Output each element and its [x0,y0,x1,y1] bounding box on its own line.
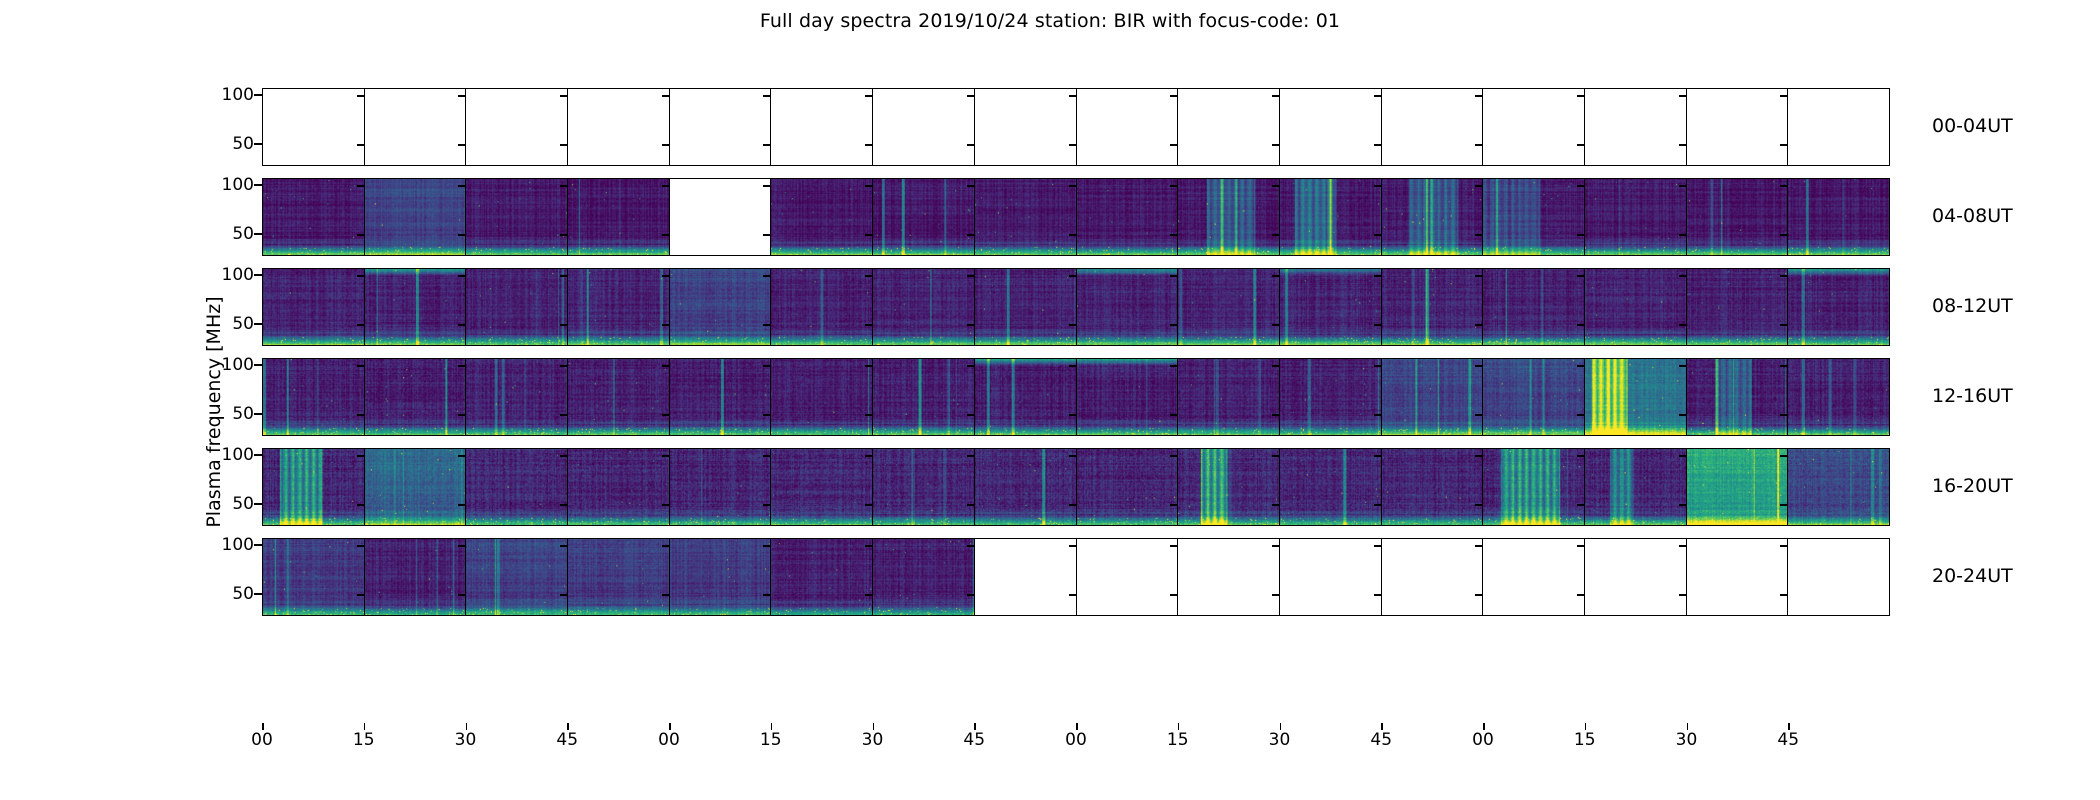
panel-tick-mark [1577,234,1585,236]
spectrogram-image [771,449,872,525]
spectrogram-image [1483,449,1584,525]
spectrogram-panel[interactable] [670,539,772,615]
x-tick-mark [262,723,264,730]
panel-tick-mark [1272,275,1280,277]
spectrogram-panel[interactable] [1178,449,1280,525]
panel-tick-mark [560,414,568,416]
spectrogram-image [670,449,771,525]
spectrogram-panel[interactable] [365,89,467,165]
spectrogram-panel[interactable] [771,539,873,615]
panel-tick-mark [1780,455,1788,457]
x-tick-label: 30 [455,730,477,750]
spectrogram-panel[interactable] [1077,359,1179,435]
panel-tick-mark [1374,504,1382,506]
spectrogram-panel[interactable] [670,179,772,255]
spectrogram-row-16-20ut: 1005016-20UT [262,448,1890,526]
panel-tick-mark [357,594,365,596]
panel-tick-mark [662,594,670,596]
spectrogram-image [1687,359,1788,435]
spectrogram-image [1178,359,1279,435]
spectrogram-panel[interactable] [466,179,568,255]
x-tick-label: 00 [1472,730,1494,750]
spectrogram-panel[interactable] [1788,449,1889,525]
x-tick-label: 15 [1574,730,1596,750]
spectrogram-image [466,359,567,435]
spectrogram-panel[interactable] [771,89,873,165]
spectrogram-image [1382,359,1483,435]
panel-tick-mark [967,185,975,187]
panel-tick-mark [560,275,568,277]
y-tick-label: 50 [184,494,254,514]
panel-tick-mark [1170,324,1178,326]
x-tick: 45 [567,730,669,756]
spectrogram-image [263,269,364,345]
panel-tick-mark [1475,455,1483,457]
spectrogram-image [1585,449,1686,525]
spectrogram-panel[interactable] [873,89,975,165]
spectrogram-image [1788,449,1889,525]
panel-tick-mark [560,504,568,506]
x-tick-label: 30 [862,730,884,750]
spectrogram-panel[interactable] [1585,269,1687,345]
spectrogram-panel[interactable] [365,269,467,345]
panel-tick-mark [662,414,670,416]
x-tick-label: 15 [760,730,782,750]
panel-tick-mark [967,275,975,277]
x-tick-label: 45 [1777,730,1799,750]
spectrogram-panel[interactable] [670,89,772,165]
x-tick: 30 [466,730,568,756]
spectrogram-panel[interactable] [1585,539,1687,615]
panel-tick-mark [1475,234,1483,236]
panel-tick-mark [1170,365,1178,367]
spectrogram-panel[interactable] [873,449,975,525]
x-tick-mark [1381,723,1383,730]
panel-tick-mark [1272,324,1280,326]
panel-tick-mark [1679,594,1687,596]
spectrogram-panel[interactable] [1382,539,1484,615]
panel-tick-mark [357,185,365,187]
panel-tick-mark [1475,185,1483,187]
row-time-label: 12-16UT [1932,385,2013,407]
spectrogram-panel[interactable] [1585,449,1687,525]
panel-tick-mark [967,455,975,457]
panel-tick-mark [1780,144,1788,146]
spectrogram-panel[interactable] [975,269,1077,345]
panel-tick-mark [1374,234,1382,236]
spectrogram-image [771,539,872,615]
spectrogram-panel[interactable] [1382,89,1484,165]
spectrogram-panel[interactable] [975,359,1077,435]
row-time-label: 20-24UT [1932,565,2013,587]
panel-tick-mark [1170,95,1178,97]
spectrogram-panel[interactable] [1280,89,1382,165]
spectrogram-image [1178,269,1279,345]
spectrogram-panel[interactable] [1077,269,1179,345]
spectrogram-panel[interactable] [1280,179,1382,255]
panel-tick-mark [458,234,466,236]
spectrogram-panel[interactable] [1585,89,1687,165]
panel-tick-mark [1780,545,1788,547]
spectrogram-panel[interactable] [1687,539,1789,615]
spectrogram-panel[interactable] [466,449,568,525]
spectrogram-row-04-08ut: 1005004-08UT [262,178,1890,256]
panel-tick-mark [1780,365,1788,367]
spectrogram-panel[interactable] [466,359,568,435]
panel-tick-mark [1374,545,1382,547]
spectrogram-image [1687,269,1788,345]
panel-tick-mark [967,545,975,547]
spectrogram-panel[interactable] [263,449,365,525]
spectrogram-panel[interactable] [1280,449,1382,525]
panel-tick-mark [357,545,365,547]
spectrogram-panel[interactable] [1687,179,1789,255]
spectrogram-panel[interactable] [466,539,568,615]
x-tick: 15 [1585,730,1687,756]
spectrogram-image [365,179,466,255]
panel-tick-mark [1374,455,1382,457]
panel-tick-mark [967,594,975,596]
spectrogram-panel[interactable] [670,359,772,435]
spectrogram-panel[interactable] [1788,269,1889,345]
spectrogram-image [975,449,1076,525]
y-tick-label: 50 [184,134,254,154]
spectrogram-panel[interactable] [1178,269,1280,345]
spectrogram-image [365,449,466,525]
page-title: Full day spectra 2019/10/24 station: BIR… [0,10,2100,32]
panel-tick-mark [1679,275,1687,277]
panel-tick-mark [1069,324,1077,326]
spectrogram-panel[interactable] [1382,269,1484,345]
spectrogram-image [568,539,669,615]
panel-tick-mark [763,455,771,457]
panel-tick-mark [1577,185,1585,187]
panel-tick-mark [357,234,365,236]
spectrogram-panel[interactable] [466,269,568,345]
x-tick-label: 00 [251,730,273,750]
spectrogram-panel[interactable] [771,359,873,435]
spectrogram-image [1788,179,1889,255]
spectrogram-image [1280,359,1381,435]
panel-tick-mark [1069,414,1077,416]
panel-tick-mark [1780,324,1788,326]
panel-tick-mark [662,144,670,146]
panel-tick-mark [1577,594,1585,596]
panel-tick-mark [1374,144,1382,146]
spectrogram-panel[interactable] [1788,359,1889,435]
spectrogram-panel[interactable] [365,449,467,525]
x-tick-mark [1076,723,1078,730]
spectrogram-panel[interactable] [1483,179,1585,255]
panel-tick-mark [1475,324,1483,326]
panel-tick-mark [1475,144,1483,146]
spectrogram-image [771,359,872,435]
spectrogram-panel[interactable] [1687,269,1789,345]
panel-tick-mark [1272,594,1280,596]
spectrogram-row-00-04ut: 1005000-04UT [262,88,1890,166]
spectrogram-panel[interactable] [1687,89,1789,165]
panel-tick-mark [1069,455,1077,457]
spectrogram-image [568,359,669,435]
spectrogram-panel[interactable] [873,359,975,435]
x-tick: 00 [669,730,771,756]
spectrogram-panel[interactable] [1788,179,1889,255]
y-tick-label: 100 [184,175,254,195]
spectrogram-image [1687,179,1788,255]
x-tick-label: 45 [556,730,578,750]
panel-tick-mark [763,95,771,97]
panel-tick-mark [763,414,771,416]
panel-tick-mark [865,275,873,277]
panel-tick-mark [458,324,466,326]
panel-tick-mark [967,504,975,506]
panel-tick-mark [1069,234,1077,236]
spectrogram-row-12-16ut: 1005012-16UT [262,358,1890,436]
spectrogram-row-20-24ut: 1005020-24UT [262,538,1890,616]
panel-tick-mark [763,594,771,596]
spectrogram-image [1178,449,1279,525]
spectrogram-panel[interactable] [365,359,467,435]
row-time-label: 08-12UT [1932,295,2013,317]
panel-tick-mark [1679,365,1687,367]
panel-tick-mark [357,504,365,506]
spectrogram-image [1483,269,1584,345]
panel-tick-mark [967,95,975,97]
spectrogram-panel[interactable] [1077,449,1179,525]
x-tick-mark [1585,723,1587,730]
row-panel-group [262,268,1890,346]
spectrogram-panel[interactable] [1687,359,1789,435]
spectrogram-panel[interactable] [1178,179,1280,255]
spectrogram-panel[interactable] [1178,359,1280,435]
spectrogram-image [873,359,974,435]
panel-tick-mark [1577,324,1585,326]
panel-tick-mark [458,144,466,146]
panel-tick-mark [865,594,873,596]
x-tick-mark [567,723,569,730]
row-time-label: 16-20UT [1932,475,2013,497]
spectrogram-panel[interactable] [873,539,975,615]
y-tick-mark [254,143,262,145]
spectrogram-panel[interactable] [670,449,772,525]
y-tick-mark [254,233,262,235]
spectrogram-panel[interactable] [568,89,670,165]
panel-tick-mark [1374,414,1382,416]
y-tick-mark [254,454,262,456]
panel-tick-mark [458,95,466,97]
spectrogram-image [1280,449,1381,525]
spectrogram-panel[interactable] [568,179,670,255]
x-tick-mark [873,723,875,730]
spectrogram-panel[interactable] [1585,359,1687,435]
x-tick: 15 [771,730,873,756]
x-tick: 30 [1687,730,1789,756]
x-tick-mark [1687,723,1689,730]
row-panel-group [262,178,1890,256]
panel-tick-mark [865,365,873,367]
spectrogram-image [1585,179,1686,255]
y-tick-mark [254,413,262,415]
spectrogram-panel[interactable] [263,89,365,165]
spectrogram-image [1382,449,1483,525]
panel-tick-mark [560,455,568,457]
spectrogram-panel[interactable] [1077,89,1179,165]
spectrogram-panel[interactable] [466,89,568,165]
x-tick: 00 [1483,730,1585,756]
panel-tick-mark [1170,275,1178,277]
panel-tick-mark [1780,234,1788,236]
spectrogram-panel[interactable] [1280,539,1382,615]
x-tick-mark [1483,723,1485,730]
panel-tick-mark [1374,594,1382,596]
spectrogram-panel[interactable] [1788,89,1889,165]
spectrogram-image [263,449,364,525]
spectrogram-panel[interactable] [873,269,975,345]
spectrogram-image [466,269,567,345]
spectrogram-panel[interactable] [568,269,670,345]
row-panel-group [262,538,1890,616]
panel-tick-mark [1577,275,1585,277]
panel-tick-mark [865,324,873,326]
panel-tick-mark [1272,95,1280,97]
x-tick-label: 00 [1065,730,1087,750]
spectrogram-panel[interactable] [975,539,1077,615]
spectrogram-image [873,269,974,345]
row-panel-group [262,448,1890,526]
panel-tick-mark [1170,144,1178,146]
spectrogram-panel[interactable] [263,269,365,345]
spectrogram-panel[interactable] [975,89,1077,165]
panel-tick-mark [865,95,873,97]
panel-tick-mark [1272,144,1280,146]
panel-tick-mark [1577,455,1585,457]
panel-tick-mark [763,504,771,506]
panel-tick-mark [1374,185,1382,187]
panel-tick-mark [458,414,466,416]
panel-tick-mark [458,594,466,596]
panel-tick-mark [662,275,670,277]
spectrogram-panel[interactable] [1483,89,1585,165]
panel-tick-mark [357,455,365,457]
y-tick-label: 50 [184,584,254,604]
x-tick-mark [771,723,773,730]
x-tick-mark [669,723,671,730]
panel-tick-mark [1475,95,1483,97]
spectrogram-panel[interactable] [1382,179,1484,255]
panel-tick-mark [865,504,873,506]
panel-tick-mark [1272,365,1280,367]
panel-tick-mark [763,545,771,547]
spectrogram-image [873,539,974,615]
panel-tick-mark [1069,144,1077,146]
panel-tick-mark [865,414,873,416]
spectrogram-panel[interactable] [1483,269,1585,345]
x-tick: 45 [1381,730,1483,756]
y-tick-mark [254,503,262,505]
panel-tick-mark [662,365,670,367]
spectrogram-panel[interactable] [1483,359,1585,435]
spectrogram-panel[interactable] [263,179,365,255]
panel-tick-mark [1577,545,1585,547]
spectrogram-panel[interactable] [263,359,365,435]
x-tick: 15 [364,730,466,756]
y-tick-label: 100 [184,355,254,375]
panel-tick-mark [1272,504,1280,506]
spectrogram-panel[interactable] [365,179,467,255]
spectrogram-panel[interactable] [1585,179,1687,255]
panel-tick-mark [1069,275,1077,277]
spectrogram-panel[interactable] [1382,449,1484,525]
spectrogram-panel[interactable] [568,449,670,525]
spectrogram-panel[interactable] [975,449,1077,525]
spectrogram-panel[interactable] [771,269,873,345]
spectrogram-panel[interactable] [1483,449,1585,525]
panel-tick-mark [662,504,670,506]
x-tick-mark [1280,723,1282,730]
spectrogram-panel[interactable] [1382,359,1484,435]
panel-tick-mark [1780,275,1788,277]
spectrogram-panel[interactable] [568,359,670,435]
panel-tick-mark [865,455,873,457]
row-time-label: 04-08UT [1932,205,2013,227]
panel-tick-mark [1170,504,1178,506]
panel-tick-mark [1679,95,1687,97]
panel-tick-mark [1780,95,1788,97]
x-tick-label: 30 [1269,730,1291,750]
panel-tick-mark [357,324,365,326]
panel-tick-mark [560,545,568,547]
spectrogram-panel[interactable] [365,539,467,615]
x-tick-mark [1178,723,1180,730]
spectrogram-panel[interactable] [1280,359,1382,435]
panel-tick-mark [763,234,771,236]
spectrogram-row-08-12ut: 1005008-12UT [262,268,1890,346]
spectrogram-panel[interactable] [1178,89,1280,165]
panel-tick-mark [357,275,365,277]
spectrogram-image [1077,359,1178,435]
panel-tick-mark [560,365,568,367]
spectrogram-panel[interactable] [568,539,670,615]
spectrogram-panel[interactable] [1077,539,1179,615]
panel-tick-mark [357,95,365,97]
panel-tick-mark [865,545,873,547]
panel-tick-mark [1679,234,1687,236]
spectrogram-panel[interactable] [1178,539,1280,615]
spectrogram-image [975,179,1076,255]
spectrogram-panel[interactable] [975,179,1077,255]
panel-tick-mark [1780,504,1788,506]
panel-tick-mark [662,95,670,97]
spectrogram-panel[interactable] [1077,179,1179,255]
spectrogram-panel[interactable] [771,179,873,255]
spectrogram-panel[interactable] [873,179,975,255]
spectrogram-image [670,539,771,615]
panel-tick-mark [1170,414,1178,416]
spectrogram-panel[interactable] [670,269,772,345]
spectrogram-panel[interactable] [1788,539,1889,615]
panel-tick-mark [967,414,975,416]
panel-tick-mark [560,324,568,326]
spectrogram-panel[interactable] [771,449,873,525]
y-tick-mark [254,364,262,366]
panel-tick-mark [763,324,771,326]
spectrogram-image [1483,179,1584,255]
spectrogram-panel[interactable] [263,539,365,615]
spectrogram-panel[interactable] [1280,269,1382,345]
panel-tick-mark [1577,144,1585,146]
spectrogram-panel[interactable] [1687,449,1789,525]
spectrogram-panel[interactable] [1483,539,1585,615]
